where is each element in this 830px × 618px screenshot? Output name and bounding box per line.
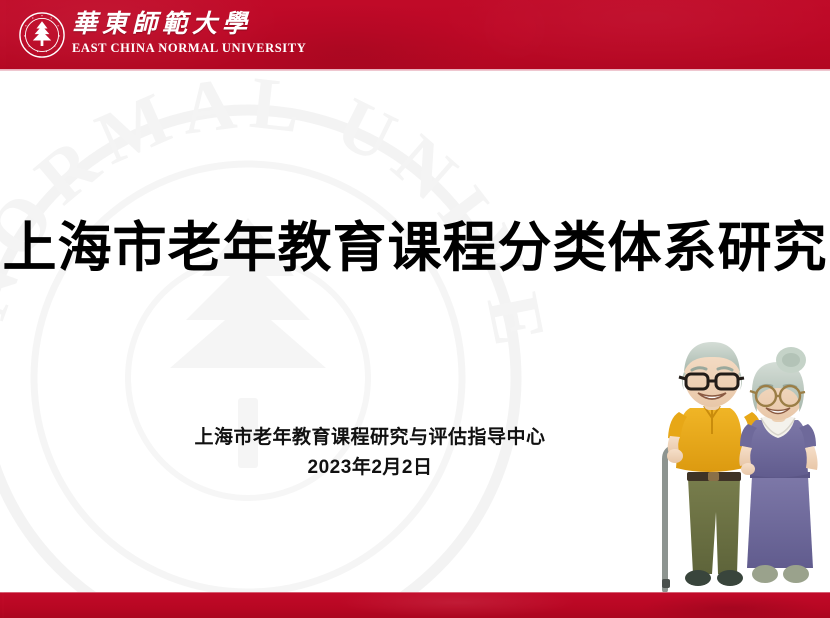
university-name-en: EAST CHINA NORMAL UNIVERSITY [72,41,352,56]
university-name-cn: 華東師範大學 [72,10,352,40]
footer-photo-texture [0,592,830,618]
university-seal-icon [19,12,65,58]
background-seal-watermark: NORMAL UNIVER [0,68,558,618]
header-underline-divider [0,69,830,71]
subtitle-block: 上海市老年教育课程研究与评估指导中心 2023年2月2日 [60,424,680,481]
slide-title: 上海市老年教育课程分类体系研究 [0,216,830,280]
university-name-block: 華東師範大學 EAST CHINA NORMAL UNIVERSITY [72,10,352,56]
elderly-couple-illustration [660,336,828,598]
subtitle-organization: 上海市老年教育课程研究与评估指导中心 [60,424,680,451]
walking-cane [662,448,672,590]
subtitle-date: 2023年2月2日 [60,454,680,481]
svg-text:NORMAL UNIVER: NORMAL UNIVER [0,68,558,361]
footer-band [0,592,830,618]
elderly-woman-figure [739,347,817,583]
presentation-slide: 華東師範大學 EAST CHINA NORMAL UNIVERSITY NORM… [0,0,830,618]
